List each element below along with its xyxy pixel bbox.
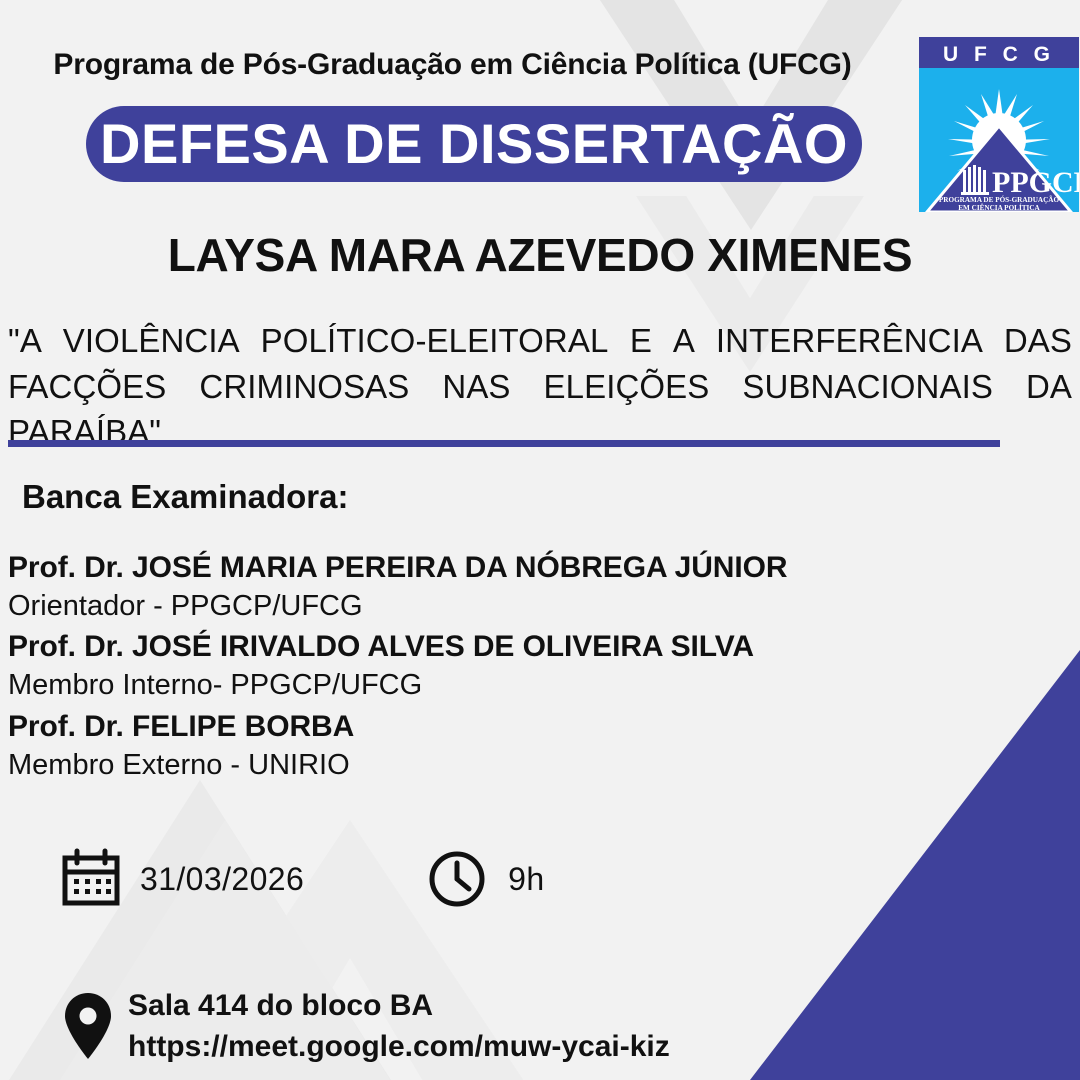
time-item: 9h <box>426 848 544 910</box>
board-member: Prof. Dr. JOSÉ IRIVALDO ALVES DE OLIVEIR… <box>8 627 908 704</box>
calendar-icon <box>60 848 122 910</box>
defense-time: 9h <box>508 861 544 898</box>
board-member-name: Prof. Dr. JOSÉ IRIVALDO ALVES DE OLIVEIR… <box>8 627 908 666</box>
location-details: Sala 414 do bloco BA https://meet.google… <box>128 985 670 1068</box>
program-name: Programa de Pós-Graduação em Ciência Pol… <box>0 48 905 82</box>
thesis-title: "A VIOLÊNCIA POLÍTICO-ELEITORAL E A INTE… <box>8 318 1072 455</box>
clock-icon <box>426 848 488 910</box>
defense-date: 31/03/2026 <box>140 861 304 898</box>
board-member-name: Prof. Dr. JOSÉ MARIA PEREIRA DA NÓBREGA … <box>8 548 908 587</box>
location-row: Sala 414 do bloco BA https://meet.google… <box>62 985 670 1068</box>
defense-banner: DEFESA DE DISSERTAÇÃO <box>86 106 862 182</box>
board-member-name: Prof. Dr. FELIPE BORBA <box>8 707 908 746</box>
board-member-role: Membro Externo - UNIRIO <box>8 746 908 784</box>
board-member-role: Orientador - PPGCP/UFCG <box>8 587 908 625</box>
board-member: Prof. Dr. FELIPE BORBA Membro Externo - … <box>8 707 908 784</box>
logo-subtitle-line1: PROGRAMA DE PÓS-GRADUAÇÃO <box>939 194 1060 204</box>
board-heading: Banca Examinadora: <box>22 478 348 516</box>
ufcg-logo-graphic: PPGCP PROGRAMA DE PÓS-GRADUAÇÃO EM CIÊNC… <box>919 37 1079 212</box>
defense-announcement-poster: Programa de Pós-Graduação em Ciência Pol… <box>0 0 1080 1080</box>
logo-subtitle-line2: EM CIÊNCIA POLÍTICA <box>958 202 1040 212</box>
logo-ufcg-letters: U F C G <box>943 43 1055 66</box>
banner-title: DEFESA DE DISSERTAÇÃO <box>100 116 848 172</box>
thesis-title-line-1: "A VIOLÊNCIA POLÍTICO-ELEITORAL E A INTE… <box>8 318 1072 364</box>
meet-link[interactable]: https://meet.google.com/muw-ycai-kiz <box>128 1026 670 1067</box>
ufcg-ppgcp-logo: PPGCP PROGRAMA DE PÓS-GRADUAÇÃO EM CIÊNC… <box>919 37 1079 212</box>
board-member: Prof. Dr. JOSÉ MARIA PEREIRA DA NÓBREGA … <box>8 548 908 625</box>
candidate-name: LAYSA MARA AZEVEDO XIMENES <box>0 228 1080 282</box>
schedule-row: 31/03/2026 9h <box>60 848 545 910</box>
board-members-list: Prof. Dr. JOSÉ MARIA PEREIRA DA NÓBREGA … <box>8 548 908 786</box>
logo-acronym: PPGCP <box>992 166 1079 199</box>
section-divider <box>8 440 1000 447</box>
room-label: Sala 414 do bloco BA <box>128 985 670 1026</box>
board-member-role: Membro Interno- PPGCP/UFCG <box>8 666 908 704</box>
date-item: 31/03/2026 <box>60 848 304 910</box>
map-pin-icon <box>62 991 114 1061</box>
